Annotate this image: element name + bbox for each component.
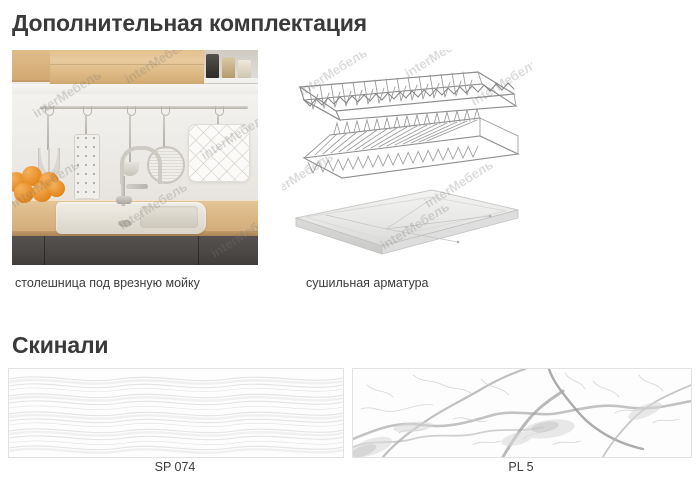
skinali-label-pl5: PL 5: [352, 460, 690, 474]
extras-item-caption: столешница под врезную мойку: [15, 276, 200, 290]
extras-gallery: interМебель interМебель interМебель inte…: [0, 50, 700, 300]
storage-jars: [206, 52, 256, 78]
inset-sink: [56, 202, 206, 234]
base-cabinets: [12, 236, 258, 265]
dish-rack-photo[interactable]: interМебель interМебель interМебель inte…: [282, 50, 532, 265]
worktop-photo[interactable]: interМебель interМебель interМебель inte…: [12, 50, 258, 265]
upper-cabinet-left: [12, 50, 50, 82]
extras-item-dish-rack[interactable]: interМебель interМебель interМебель inte…: [282, 50, 532, 265]
skinali-swatch-sp074[interactable]: [8, 368, 344, 458]
page-root: Дополнительная комплектация: [0, 0, 700, 500]
marble-texture-svg: [353, 369, 691, 457]
wave-relief-texture: [9, 369, 343, 457]
page-title-extras: Дополнительная комплектация: [12, 10, 367, 37]
dish-rack-illustration: [282, 50, 532, 265]
shelf-lip: [204, 78, 258, 83]
kitchen-scene-illustration: [12, 50, 258, 265]
faucet-icon: [120, 146, 154, 204]
skinali-gallery: SP 074: [0, 368, 700, 488]
extras-item-caption: сушильная арматура: [306, 276, 428, 290]
page-title-skinali: Скинали: [12, 332, 108, 359]
dish-rack-svg: [282, 50, 532, 265]
sink-bowl: [140, 206, 198, 228]
sink-drain: [118, 220, 132, 227]
under-cabinet-light: [12, 84, 258, 94]
skinali-label-sp074: SP 074: [8, 460, 342, 474]
wave-texture-svg: [9, 369, 343, 457]
extras-item-worktop[interactable]: interМебель interМебель interМебель inte…: [12, 50, 258, 265]
marble-texture: [353, 369, 691, 457]
fruit-bowl-oranges: [12, 158, 68, 202]
skinali-swatch-pl5[interactable]: [352, 368, 692, 458]
